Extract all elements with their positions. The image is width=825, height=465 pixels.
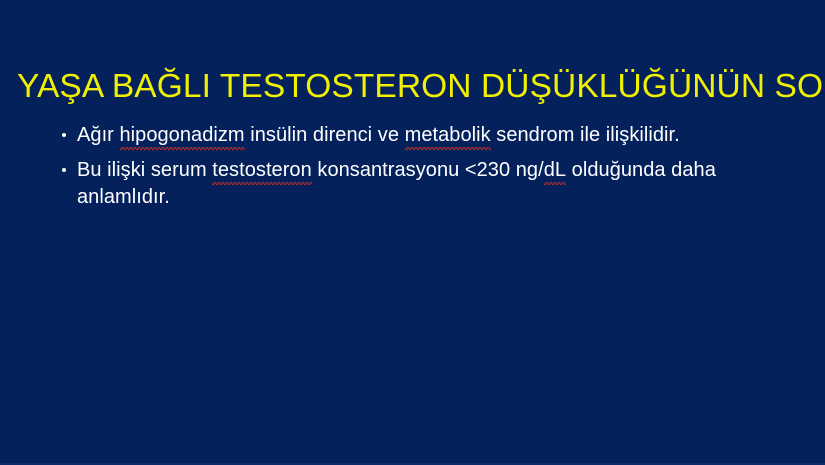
misspelled-word: hipogonadizm (120, 122, 245, 149)
list-item: Bu ilişki serum testosteron konsantrasyo… (60, 157, 790, 210)
text-segment: Bu ilişki serum (77, 159, 212, 181)
list-item: Ağır hipogonadizm insülin direnci ve met… (60, 122, 790, 149)
bullet-dot-icon (62, 168, 66, 172)
bullet-text: Ağır hipogonadizm insülin direnci ve met… (77, 124, 680, 146)
text-segment: Ağır (77, 124, 120, 146)
slide-body-content: Ağır hipogonadizm insülin direnci ve met… (60, 122, 790, 210)
bullet-dot-icon (62, 133, 66, 137)
text-segment: insülin direnci ve (245, 124, 405, 146)
misspelled-word: metabolik (405, 122, 491, 149)
misspelled-word: testosteron (212, 157, 312, 184)
bullet-text: Bu ilişki serum testosteron konsantrasyo… (77, 159, 716, 208)
misspelled-word: dL (544, 157, 566, 184)
text-segment: sendrom ile ilişkilidir. (491, 124, 680, 146)
text-segment: konsantrasyonu <230 ng/ (312, 159, 544, 181)
presentation-slide: YAŞA BAĞLI TESTOSTERON DÜŞÜKLÜĞÜNÜN SONU… (0, 0, 825, 465)
page-title: YAŞA BAĞLI TESTOSTERON DÜŞÜKLÜĞÜNÜN SONU… (17, 67, 812, 107)
